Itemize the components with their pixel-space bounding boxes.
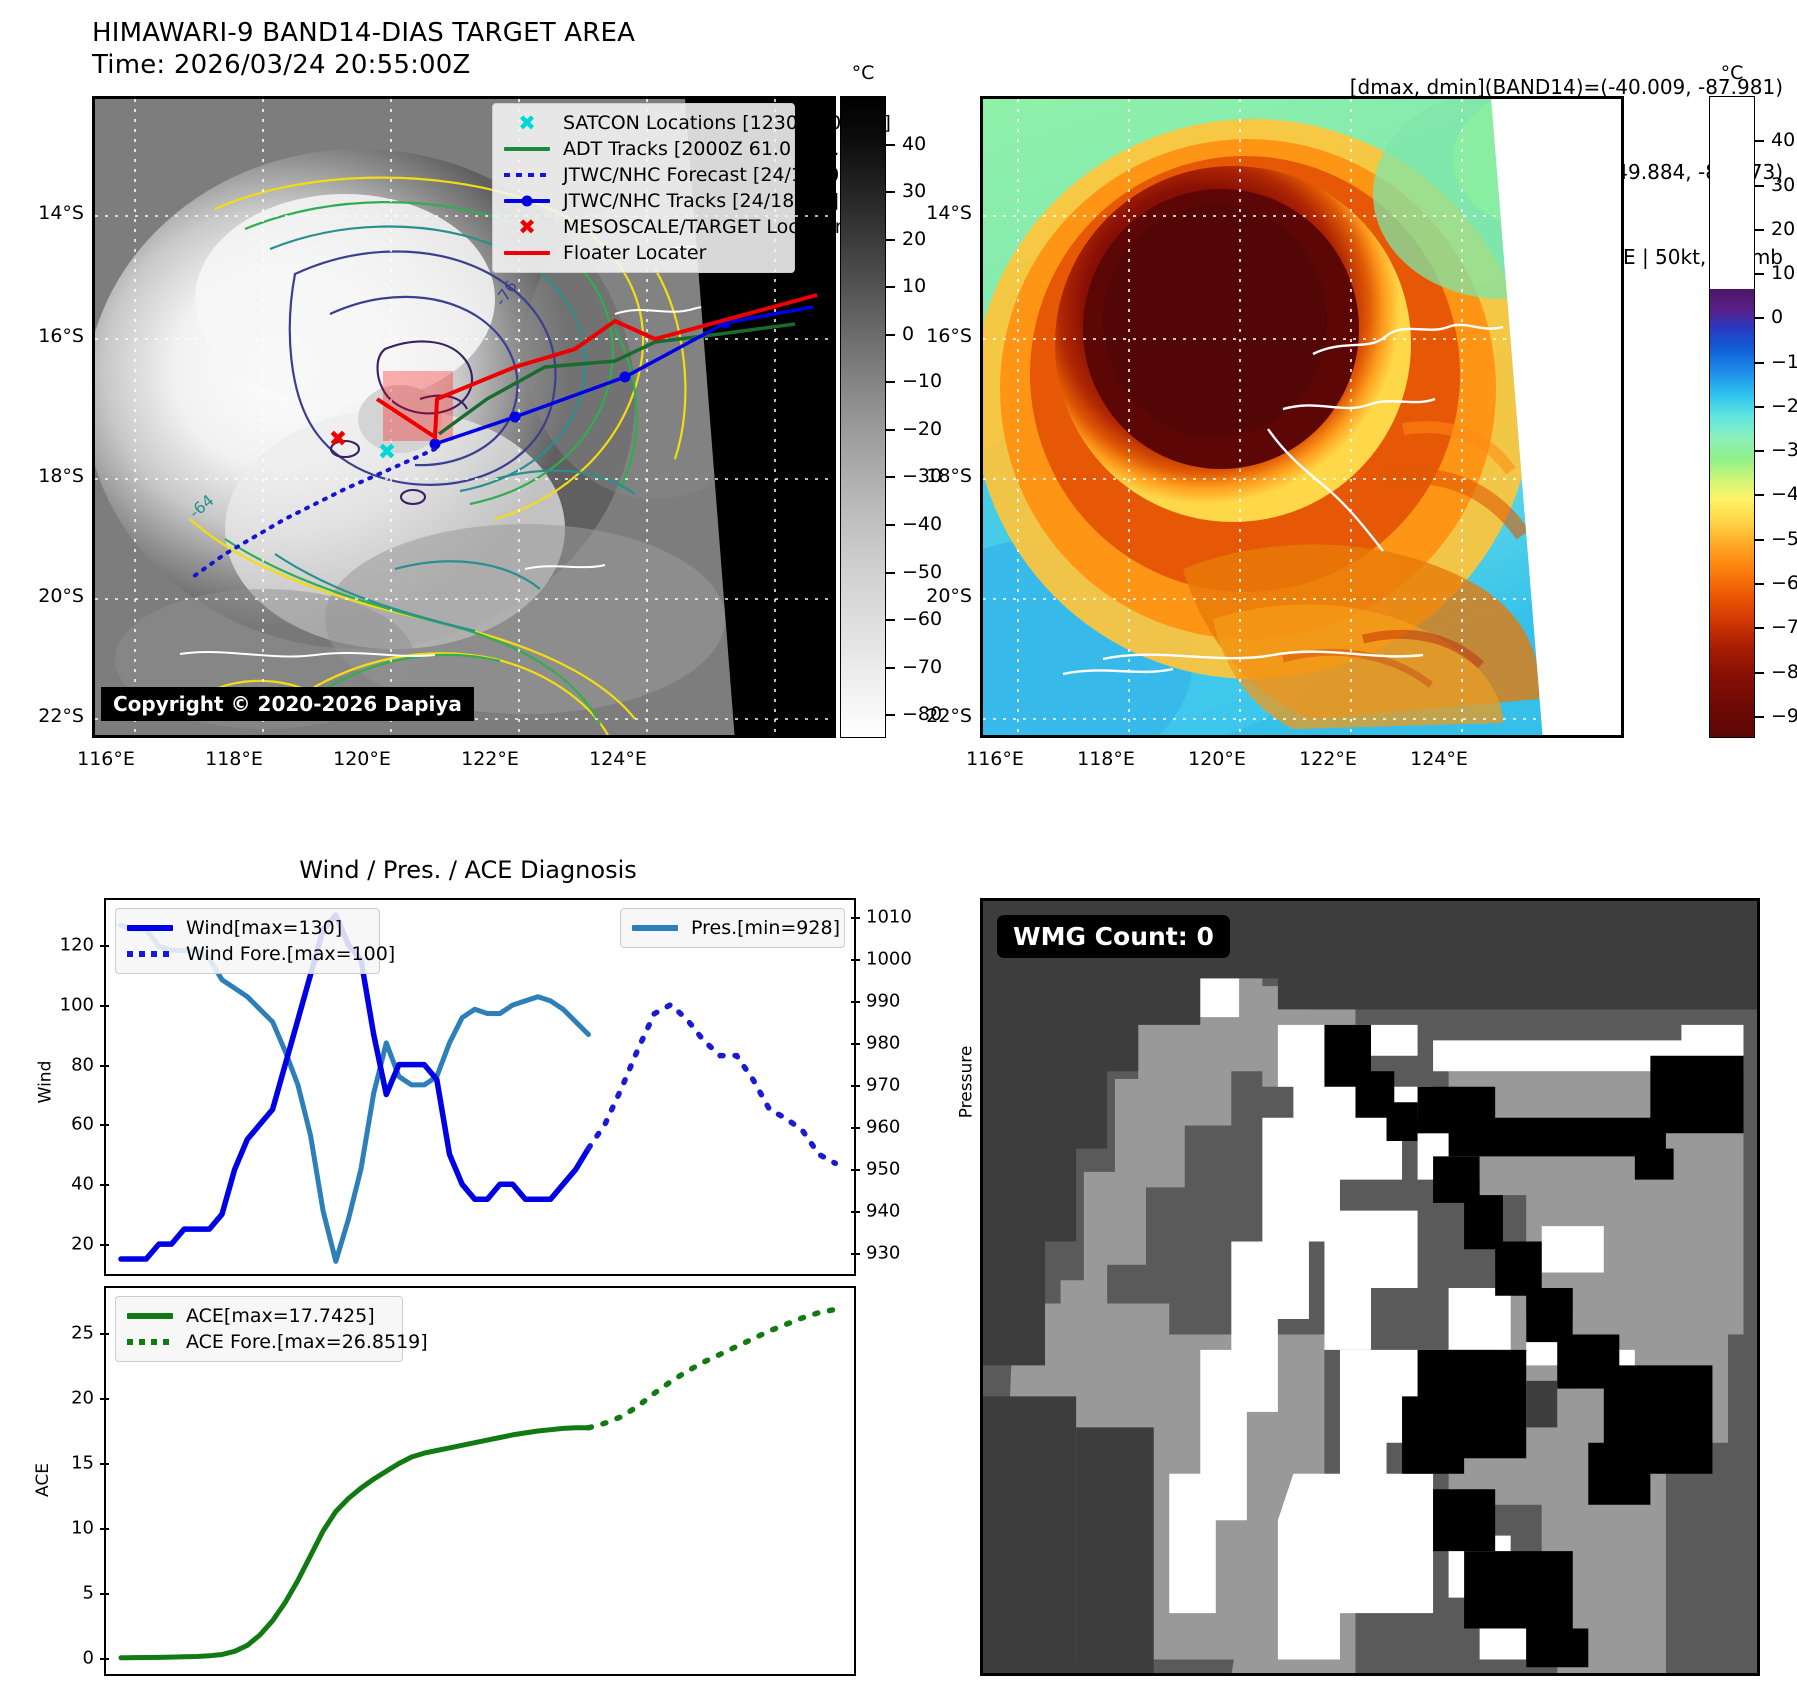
left-colorbar-ticklabel: −50 [902,561,942,583]
right-colorbar-tickmark [1755,362,1764,364]
legend-label: ADT Tracks [2000Z 61.0 985.8] [563,138,859,160]
left-colorbar-ticklabel: −70 [902,656,942,678]
right-colorbar-tickmark [1755,539,1764,541]
wmg-count-badge: WMG Count: 0 [997,915,1230,958]
right-lat-20s: 20°S [926,585,980,607]
pressure-axis-label: Pressure [956,1046,976,1119]
page-title-line2: Time: 2026/03/24 20:55:00Z [92,50,471,80]
right-lon-118e: 118°E [1077,748,1135,770]
right-colorbar-ticklabel: −30 [1771,439,1797,461]
ace-legend[interactable]: ACE[max=17.7425] ACE Fore.[max=26.8519] [115,1296,403,1362]
left-lon-116e: 116°E [77,748,135,770]
satcon-x-icon: ✖ [501,113,553,134]
left-lat-18s: 18°S [38,465,92,487]
pressure-y-ticklabel: 1000 [856,948,912,969]
wind-y-ticklabel: 80 [71,1054,104,1075]
left-colorbar-tickmark [886,286,895,288]
wind-axis-label: Wind [35,1061,55,1104]
satcon-marker: ✖ [378,440,396,465]
left-colorbar-tickmark [886,476,895,478]
copyright-label: Copyright © 2020-2026 Dapiya [101,687,474,721]
left-lon-118e: 118°E [205,748,263,770]
right-colorbar-tickmark [1755,185,1764,187]
left-colorbar-tickmark [886,619,895,621]
left-colorbar [840,96,886,738]
right-colorbar-ticklabel: −70 [1771,616,1797,638]
left-colorbar-tickmark [886,572,895,574]
legend-item-wind: Wind[max=130] [124,915,369,941]
pressure-legend[interactable]: Pres.[min=928] [620,908,845,948]
right-lon-120e: 120°E [1188,748,1246,770]
legend-item-ace-forecast: ACE Fore.[max=26.8519] [124,1329,392,1355]
legend-label: ACE Fore.[max=26.8519] [186,1331,428,1353]
left-lon-124e: 124°E [589,748,647,770]
left-colorbar-tickmark [886,381,895,383]
legend-item-ace: ACE[max=17.7425] [124,1303,392,1329]
wind-forecast-dotted-icon [124,951,176,957]
wmg-panel[interactable]: WMG Count: 0 [980,898,1760,1676]
right-colorbar-tickmark [1755,627,1764,629]
wind-legend[interactable]: Wind[max=130] Wind Fore.[max=100] [115,908,380,974]
legend-label: MESOSCALE/TARGET Location [563,216,847,238]
page-subtitle: Time: 2026/03/24 20:55:00Z [92,50,471,80]
right-colorbar-tickmark [1755,273,1764,275]
wind-y-ticklabel: 60 [71,1114,104,1135]
right-lon-122e: 122°E [1299,748,1357,770]
right-colorbar-tickmark [1755,317,1764,319]
right-colorbar-ticklabel: 10 [1771,262,1795,284]
diagnosis-title: Wind / Pres. / ACE Diagnosis [299,856,637,884]
left-lon-120e: 120°E [333,748,391,770]
pressure-y-ticklabel: 970 [856,1074,900,1095]
ace-forecast-series [589,1309,836,1427]
legend-item-floater: Floater Locater [501,240,784,266]
left-lat-14s: 14°S [38,202,92,224]
right-colorbar-ticklabel: −20 [1771,395,1797,417]
left-lat-22s: 22°S [38,705,92,727]
right-lat-18s: 18°S [926,465,980,487]
mesoscale-x-icon: ✖ [501,217,553,238]
left-colorbar-ticklabel: −40 [902,513,942,535]
pressure-y-ticklabel: 960 [856,1116,900,1137]
left-colorbar-tickmark [886,144,895,146]
wind-forecast-series [589,1005,836,1164]
wind-y-ticklabel: 100 [60,994,104,1015]
right-colorbar-ticklabel: 20 [1771,218,1795,240]
ace-y-ticklabel: 25 [71,1323,104,1344]
right-colorbar-tickmark [1755,583,1764,585]
right-colorbar-tickmark [1755,406,1764,408]
jtwc-line-point-icon [501,199,553,203]
floater-line-icon [501,251,553,255]
right-colorbar-tickmark [1755,494,1764,496]
left-colorbar-tickmark [886,334,895,336]
left-colorbar-unit: °C [852,62,875,84]
ace-forecast-dotted-icon [124,1339,176,1345]
legend-label: Wind[max=130] [186,917,342,939]
mesoscale-marker: ✖ [329,427,347,452]
pressure-y-ticklabel: 1010 [856,906,912,927]
left-colorbar-tickmark [886,191,895,193]
right-colorbar-tickmark [1755,140,1764,142]
ace-y-ticklabel: 15 [71,1453,104,1474]
left-colorbar-ticklabel: 20 [902,228,926,250]
dashboard-root: HIMAWARI-9 BAND14-DIAS TARGET AREA Time:… [0,0,1797,1690]
legend-label: Pres.[min=928] [691,917,840,939]
right-colorbar-tickmark [1755,229,1764,231]
ace-axis-label: ACE [33,1463,53,1497]
adt-line-icon [501,147,553,151]
pressure-y-ticklabel: 930 [856,1242,900,1263]
wind-y-ticklabel: 20 [71,1234,104,1255]
right-colorbar-ticklabel: −90 [1771,705,1797,727]
page-title-line1: HIMAWARI-9 BAND14-DIAS TARGET AREA [92,18,635,48]
right-colorbar-ticklabel: 30 [1771,174,1795,196]
pressure-y-ticklabel: 950 [856,1158,900,1179]
right-colorbar-unit: °C [1721,62,1744,84]
left-lon-122e: 122°E [461,748,519,770]
right-colorbar-tickmark [1755,716,1764,718]
right-colorbar-ticklabel: −40 [1771,483,1797,505]
pressure-series [121,925,589,1261]
wmg-raster [983,901,1759,1675]
left-colorbar-ticklabel: −20 [902,418,942,440]
legend-label: Wind Fore.[max=100] [186,943,395,965]
wind-y-ticklabel: 40 [71,1174,104,1195]
right-colorbar-tickmark [1755,450,1764,452]
legend-item-pressure: Pres.[min=928] [629,915,834,941]
right-lat-22s: 22°S [926,705,980,727]
right-map-canvas [983,99,1624,738]
left-colorbar-tickmark [886,714,895,716]
right-colorbar-ticklabel: 0 [1771,306,1783,328]
legend-label: Floater Locater [563,242,706,264]
right-lat-16s: 16°S [926,325,980,347]
legend-item-forecast: JTWC/NHC Forecast [24/1800Z] [501,162,784,188]
wind-line-icon [124,925,176,931]
forecast-dotted-icon [501,173,553,177]
left-lat-20s: 20°S [38,585,92,607]
legend-item-satcon: ✖ SATCON Locations [1230Z 50 990] [501,110,784,136]
left-colorbar-ticklabel: 30 [902,180,926,202]
right-lon-124e: 124°E [1410,748,1468,770]
right-colorbar-ticklabel: −50 [1771,528,1797,550]
right-lon-116e: 116°E [966,748,1024,770]
ace-y-ticklabel: 20 [71,1388,104,1409]
legend-label: JTWC/NHC Forecast [24/1800Z] [563,164,860,186]
left-colorbar-tickmark [886,524,895,526]
left-lat-16s: 16°S [38,325,92,347]
right-satellite-map[interactable] [980,96,1624,738]
right-colorbar-tickmark [1755,672,1764,674]
left-colorbar-ticklabel: 10 [902,275,926,297]
pressure-y-ticklabel: 980 [856,1032,900,1053]
left-colorbar-ticklabel: 0 [902,323,914,345]
legend-item-adt: ADT Tracks [2000Z 61.0 985.8] [501,136,784,162]
left-colorbar-ticklabel: −10 [902,370,942,392]
left-colorbar-ticklabel: −60 [902,608,942,630]
legend-item-jtwc: JTWC/NHC Tracks [24/1800Z] [501,188,784,214]
legend-item-mesoscale: ✖ MESOSCALE/TARGET Location [501,214,784,240]
ace-line-icon [124,1313,176,1319]
pressure-y-ticklabel: 990 [856,990,900,1011]
pressure-y-ticklabel: 940 [856,1200,900,1221]
legend-label: JTWC/NHC Tracks [24/1800Z] [563,190,839,212]
legend-label: ACE[max=17.7425] [186,1305,375,1327]
right-colorbar-ticklabel: −80 [1771,661,1797,683]
right-colorbar-ticklabel: 40 [1771,129,1795,151]
right-lat-14s: 14°S [926,202,980,224]
legend-item-wind-forecast: Wind Fore.[max=100] [124,941,369,967]
page-title: HIMAWARI-9 BAND14-DIAS TARGET AREA [92,18,635,48]
pressure-line-icon [629,925,681,931]
ace-y-ticklabel: 10 [71,1518,104,1539]
left-colorbar-ticklabel: 40 [902,133,926,155]
left-colorbar-tickmark [886,429,895,431]
wind-y-ticklabel: 120 [60,934,104,955]
right-colorbar [1709,96,1755,738]
right-colorbar-ticklabel: −10 [1771,351,1797,373]
ace-y-ticklabel: 0 [83,1648,104,1669]
left-colorbar-tickmark [886,667,895,669]
right-colorbar-ticklabel: −60 [1771,572,1797,594]
ace-series [121,1428,589,1658]
ace-y-ticklabel: 5 [83,1583,104,1604]
map-legend[interactable]: ✖ SATCON Locations [1230Z 50 990] ADT Tr… [492,103,795,273]
left-colorbar-tickmark [886,239,895,241]
